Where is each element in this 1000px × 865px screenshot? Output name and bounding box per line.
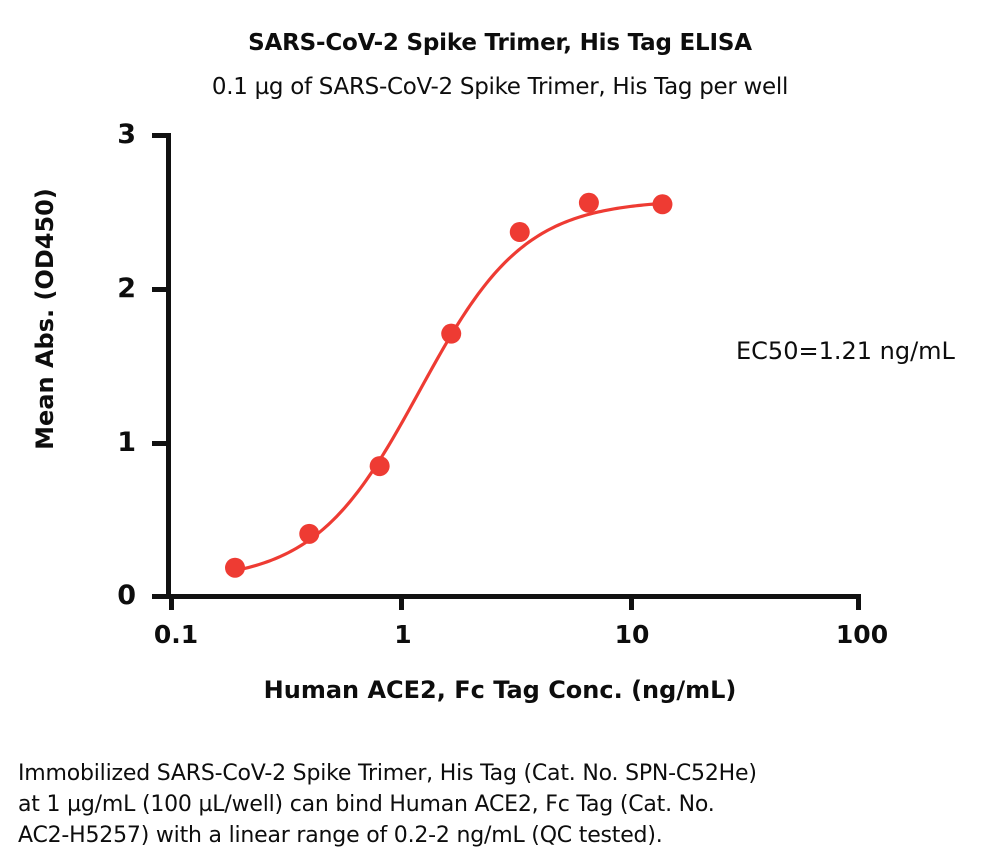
data-point <box>225 558 245 578</box>
chart-subtitle: 0.1 µg of SARS-CoV-2 Spike Trimer, His T… <box>0 74 1000 100</box>
x-tick-label-1: 1 <box>394 620 411 649</box>
data-point <box>652 194 672 214</box>
y-tick-label-3: 3 <box>96 119 136 150</box>
data-point <box>441 324 461 344</box>
x-tick-1 <box>399 594 404 610</box>
x-tick-label-0p1: 0.1 <box>154 620 198 649</box>
y-tick-3 <box>152 133 166 138</box>
chart-title: SARS-CoV-2 Spike Trimer, His Tag ELISA <box>0 30 1000 56</box>
caption-line-3: AC2-H5257) with a linear range of 0.2-2 … <box>18 820 918 851</box>
y-tick-1 <box>152 441 166 446</box>
plot-overlay <box>0 0 1000 865</box>
x-tick-label-100: 100 <box>836 620 888 649</box>
fit-curve <box>235 203 662 570</box>
data-point <box>579 193 599 213</box>
y-axis-title: Mean Abs. (OD450) <box>31 119 59 519</box>
ec50-annotation: EC50=1.21 ng/mL <box>736 337 955 365</box>
figure-caption: Immobilized SARS-CoV-2 Spike Trimer, His… <box>18 758 918 851</box>
data-point <box>370 456 390 476</box>
data-point <box>510 222 530 242</box>
y-tick-0 <box>152 594 166 599</box>
figure-root: SARS-CoV-2 Spike Trimer, His Tag ELISA 0… <box>0 0 1000 865</box>
y-axis-line <box>166 133 171 599</box>
y-tick-2 <box>152 287 166 292</box>
caption-line-2: at 1 µg/mL (100 µL/well) can bind Human … <box>18 789 918 820</box>
y-tick-label-2: 2 <box>96 273 136 304</box>
x-tick-100 <box>856 594 861 610</box>
x-tick-0p1 <box>169 594 174 610</box>
caption-line-1: Immobilized SARS-CoV-2 Spike Trimer, His… <box>18 758 918 789</box>
y-tick-label-1: 1 <box>96 427 136 458</box>
x-tick-10 <box>629 594 634 610</box>
data-point <box>299 524 319 544</box>
x-axis-line <box>166 594 860 599</box>
x-tick-label-10: 10 <box>615 620 650 649</box>
y-tick-label-0: 0 <box>96 580 136 611</box>
data-point-group <box>225 193 672 578</box>
x-axis-title: Human ACE2, Fc Tag Conc. (ng/mL) <box>0 676 1000 704</box>
